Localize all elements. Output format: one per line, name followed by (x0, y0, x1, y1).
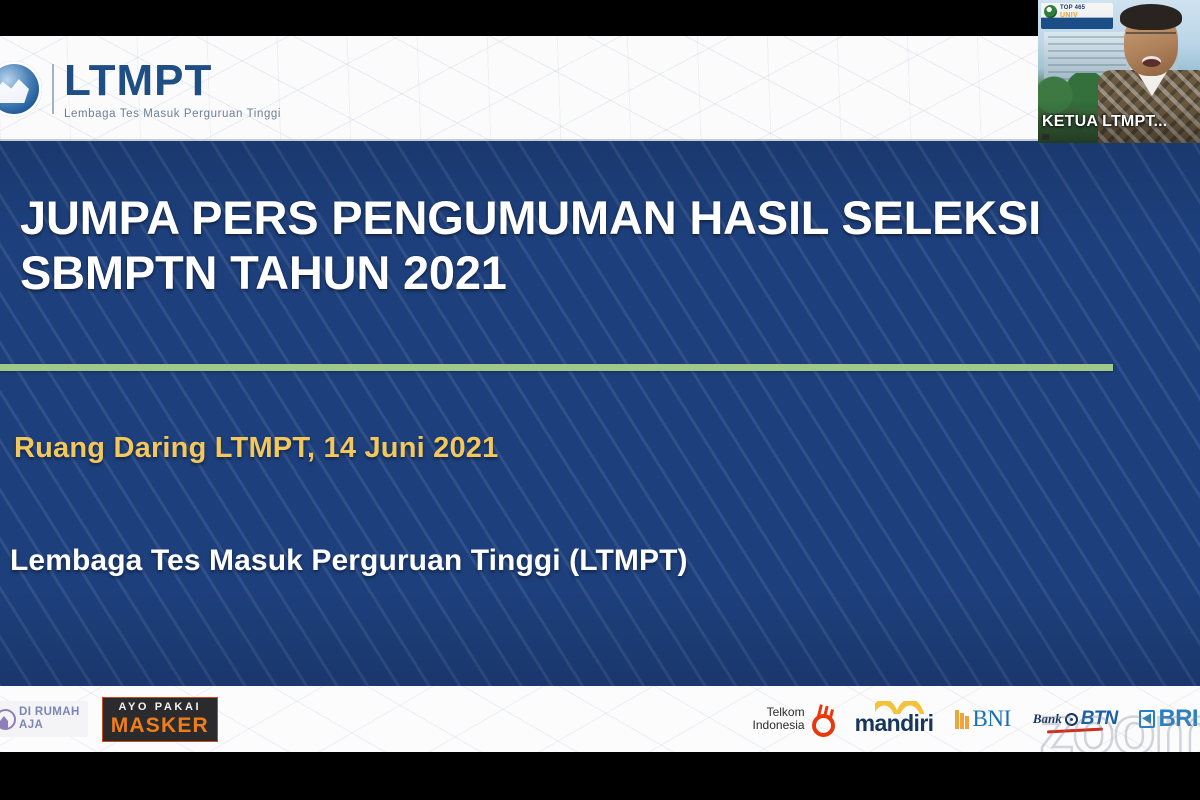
campaign-ayo-pakai-masker: AYO PAKAI MASKER (102, 697, 218, 742)
footer-sponsor-logos: Telkom Indonesia mandiri BNI Bank BT (753, 686, 1198, 752)
slide-footer-band: DI RUMAH AJA AYO PAKAI MASKER Telkom Ind… (0, 686, 1200, 752)
telkom-hand-icon (809, 707, 833, 731)
presentation-slide: LTMPT Lembaga Tes Masuk Perguruan Tinggi… (0, 36, 1200, 752)
badge-line1: TOP 465 (1060, 5, 1085, 11)
bri-mark-icon (1139, 710, 1155, 728)
bottom-letterbox-bar (0, 752, 1200, 800)
campaign-line2: AJA (19, 719, 80, 732)
mandiri-wave-icon (875, 701, 931, 714)
logo-divider (52, 64, 54, 114)
sponsor-label: BNI (972, 706, 1010, 732)
sponsor-label: mandiri (855, 712, 934, 735)
participant-hair (1120, 4, 1182, 30)
logo-title: LTMPT (64, 59, 281, 103)
sponsor-bank-btn: Bank BTN (1033, 708, 1118, 730)
sponsor-telkom-indonesia: Telkom Indonesia (753, 706, 833, 733)
slide-subtitle: Ruang Daring LTMPT, 14 Juni 2021 (14, 432, 498, 465)
btn-circle-icon (1065, 713, 1078, 726)
video-corner-marker (1042, 134, 1049, 140)
house-icon (0, 707, 14, 731)
btn-underline-accent (1047, 728, 1103, 734)
sponsor-bank-mandiri: mandiri (855, 703, 934, 735)
footer-campaign-logos: DI RUMAH AJA AYO PAKAI MASKER (0, 686, 218, 752)
campaign-di-rumah-aja: DI RUMAH AJA (0, 701, 88, 737)
badge-line2: UNIV (1060, 12, 1085, 19)
bni-bars-icon (955, 710, 970, 729)
logo-text-block: LTMPT Lembaga Tes Masuk Perguruan Tinggi (64, 59, 281, 120)
slide-organization: Lembaga Tes Masuk Perguruan Tinggi (LTMP… (10, 544, 688, 578)
screen-share-view: LTMPT Lembaga Tes Masuk Perguruan Tinggi… (0, 0, 1200, 800)
ltmpt-logo-lockup: LTMPT Lembaga Tes Masuk Perguruan Tinggi (0, 52, 281, 126)
sponsor-bni: BNI (955, 706, 1010, 732)
campaign-line1: AYO PAKAI (118, 702, 201, 713)
sponsor-label: Telkom Indonesia (753, 706, 805, 733)
campaign-line1: DI RUMAH (19, 706, 80, 719)
institution-seal-icon (1044, 5, 1057, 18)
logo-subtitle: Lembaga Tes Masuk Perguruan Tinggi (64, 108, 281, 120)
slide-title: JUMPA PERS PENGUMUMAN HASIL SELEKSI SBMP… (20, 191, 1130, 300)
participant-name-label: KETUA LTMPT... (1042, 113, 1167, 131)
participant-mouth (1142, 56, 1161, 67)
ltmpt-seal-icon (0, 61, 42, 117)
sponsor-label: BRI (1158, 705, 1198, 733)
sponsor-prefix: Bank (1033, 711, 1062, 727)
glasses-icon (1126, 32, 1176, 44)
institution-badge-text: TOP 465 UNIV (1060, 5, 1085, 19)
campaign-label: DI RUMAH AJA (19, 706, 80, 732)
slide-accent-rule (0, 364, 1113, 371)
telkom-line1: Telkom (753, 706, 805, 719)
top-letterbox-bar (0, 0, 1038, 36)
campaign-line2: MASKER (111, 715, 209, 736)
sponsor-bri: BRI (1139, 705, 1198, 733)
telkom-line2: Indonesia (753, 719, 805, 732)
participant-video-tile[interactable]: TOP 465 UNIV KETUA LTMPT... (1038, 0, 1200, 143)
institution-badge: TOP 465 UNIV (1041, 3, 1113, 29)
